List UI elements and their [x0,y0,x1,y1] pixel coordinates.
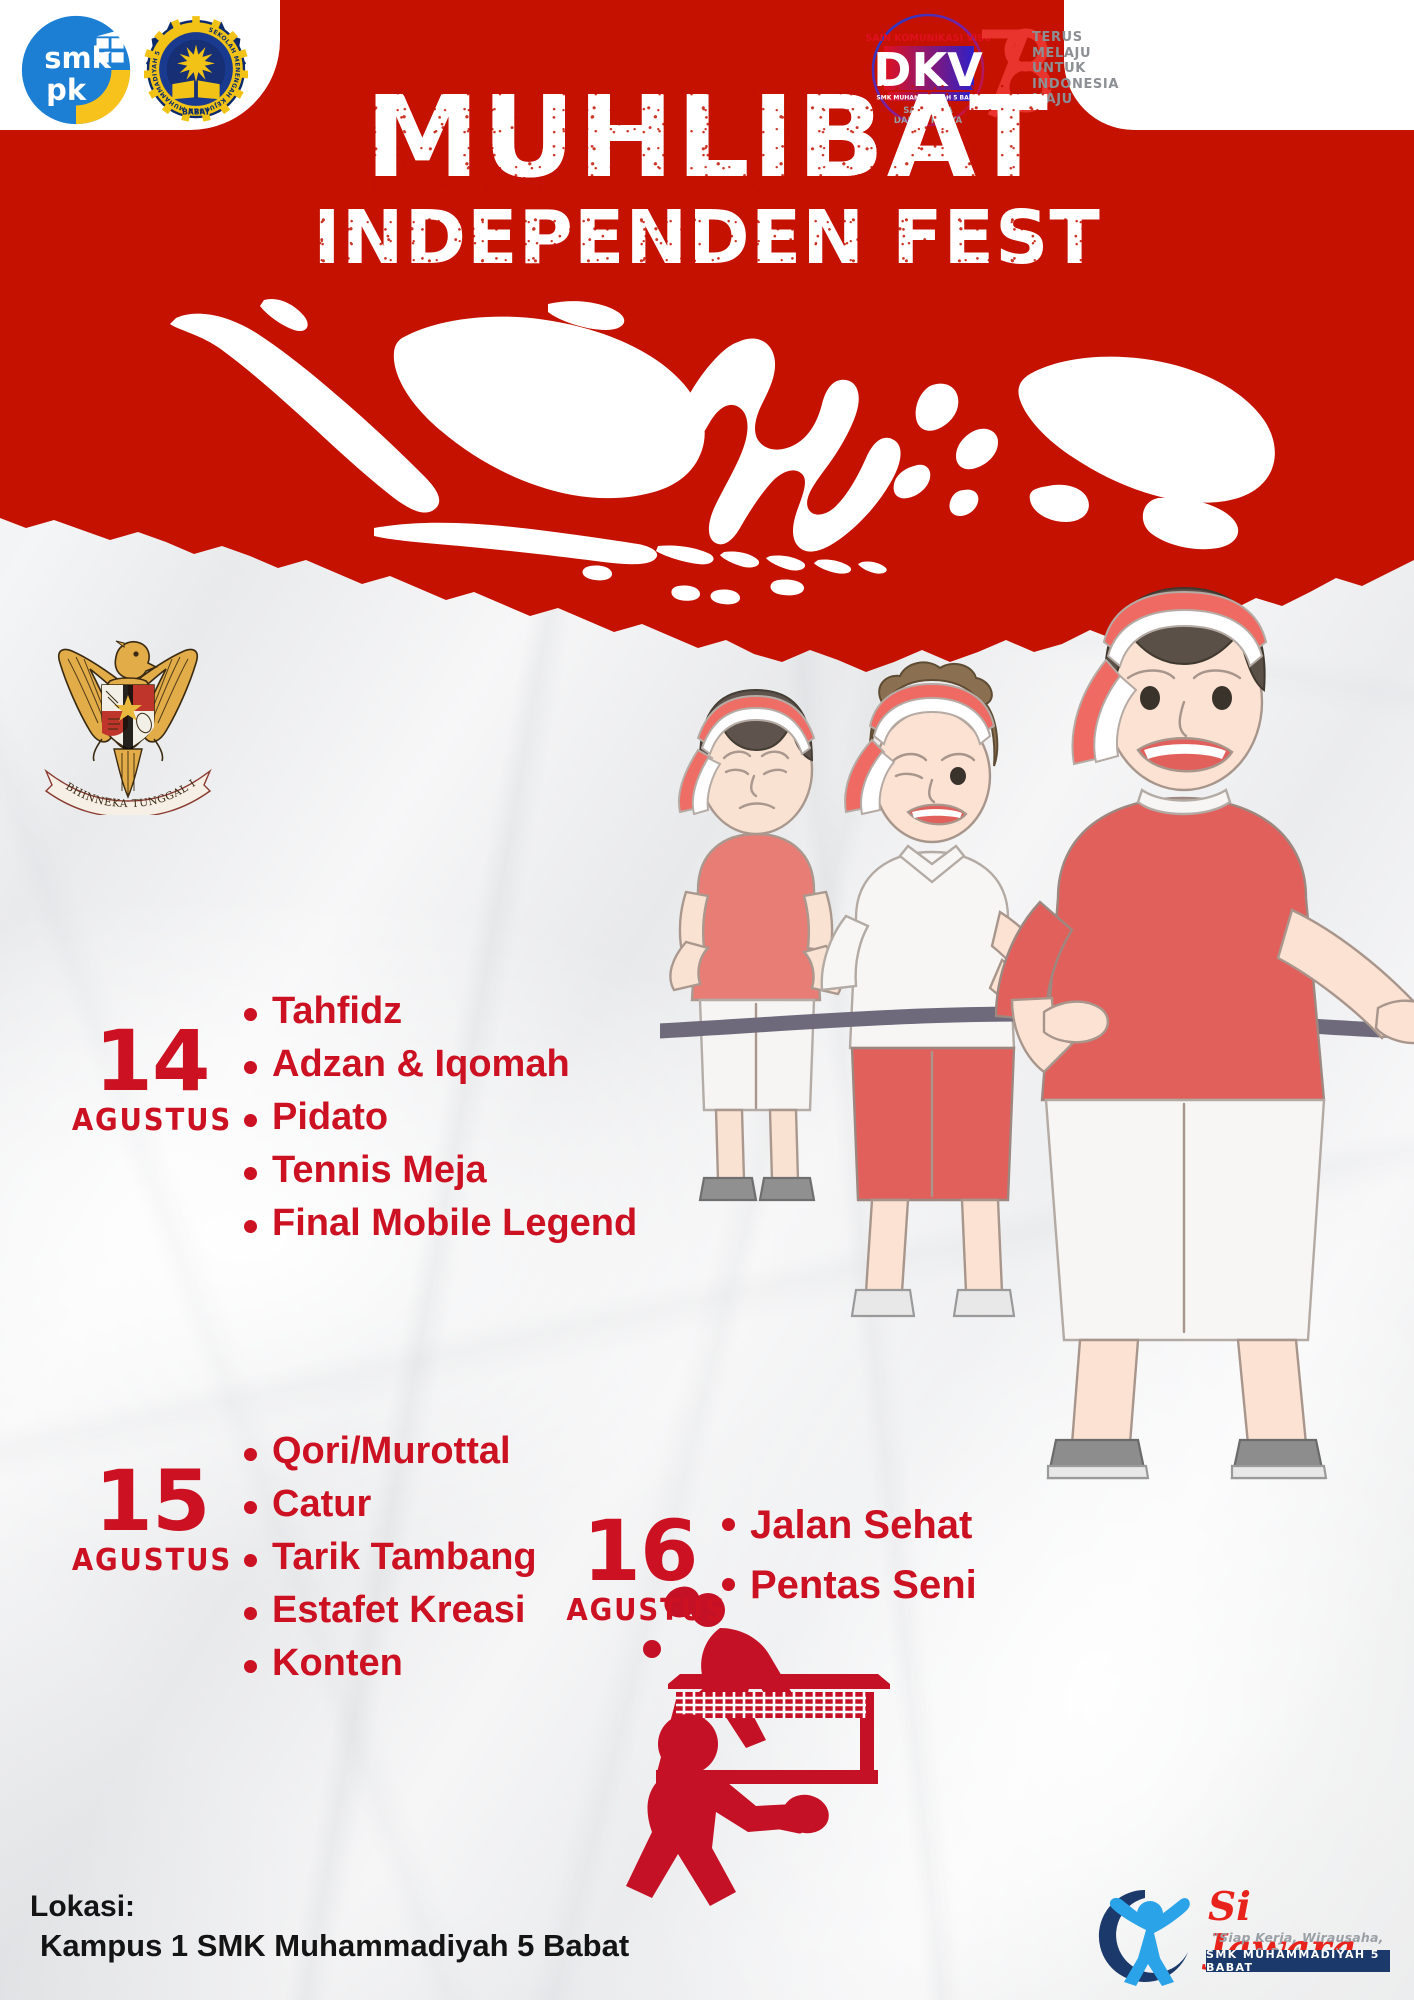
location-label: Lokasi: [30,1888,629,1926]
event-list-16: Jalan Sehat Pentas Seni [720,1495,977,1615]
list-item: Tennis Meja [242,1144,637,1197]
list-item: Pidato [242,1091,637,1144]
schedule-section: 14 AGUSTUS Tahfidz Adzan & Iqomah Pidato… [0,0,1414,2000]
day-number: 16 [560,1513,720,1589]
list-item: Pentas Seni [720,1555,977,1615]
si-jawara-school: SMK MUHAMMADIYAH 5 BABAT [1206,1950,1390,1972]
si-jawara-mark-icon [1090,1884,1200,1988]
list-item: Qori/Murottal [242,1425,537,1478]
si-jawara-logo: Si Jawara "Siap Kerja, Wirausaha, & Berk… [1090,1884,1390,1988]
event-list-14: Tahfidz Adzan & Iqomah Pidato Tennis Mej… [242,985,637,1250]
day-number: 14 [62,1023,242,1099]
location-value: Kampus 1 SMK Muhammadiyah 5 Babat [30,1926,629,1966]
list-item: Estafet Kreasi [242,1584,537,1637]
list-item: Jalan Sehat [720,1495,977,1555]
list-item: Catur [242,1478,537,1531]
list-item: Final Mobile Legend [242,1197,637,1250]
schedule-day-16: 16 AGUSTUS Jalan Sehat Pentas Seni [560,1495,977,1627]
schedule-day-14: 14 AGUSTUS Tahfidz Adzan & Iqomah Pidato… [62,985,637,1250]
location-block: Lokasi: Kampus 1 SMK Muhammadiyah 5 Baba… [30,1888,629,1966]
poster-root: smk pk [0,0,1414,2000]
event-list-15: Qori/Murottal Catur Tarik Tambang Estafe… [242,1425,537,1690]
day-month: AGUSTUS [566,1595,713,1627]
list-item: Tarik Tambang [242,1531,537,1584]
day-month: AGUSTUS [69,1545,235,1577]
list-item: Adzan & Iqomah [242,1038,637,1091]
date-block-14: 14 AGUSTUS [62,985,242,1137]
day-month: AGUSTUS [69,1105,235,1137]
list-item: Konten [242,1637,537,1690]
date-block-16: 16 AGUSTUS [560,1495,720,1627]
list-item: Tahfidz [242,985,637,1038]
day-number: 15 [62,1463,242,1539]
schedule-day-15: 15 AGUSTUS Qori/Murottal Catur Tarik Tam… [62,1425,537,1690]
date-block-15: 15 AGUSTUS [62,1425,242,1577]
